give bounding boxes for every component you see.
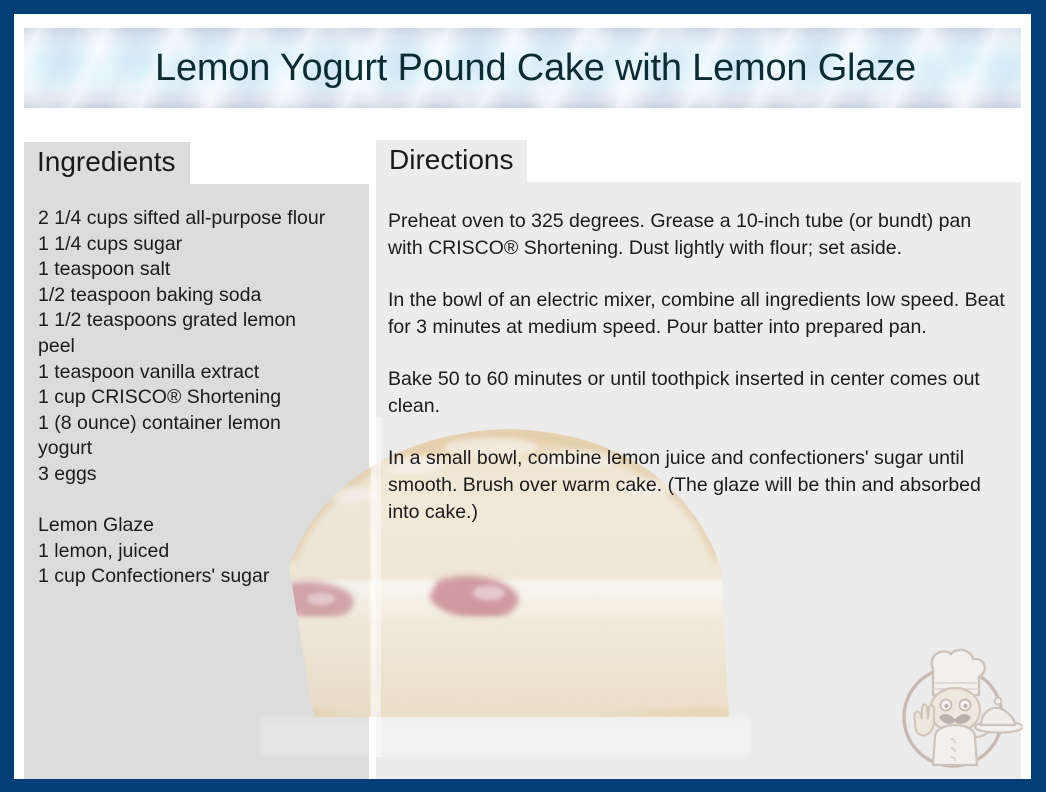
section-header-ingredients: Ingredients: [24, 142, 190, 185]
ingredient-line: 1 lemon, juiced: [38, 539, 357, 565]
ingredient-line: Lemon Glaze: [38, 513, 357, 539]
ingredient-line: 1 cup Confectioners' sugar: [38, 564, 357, 590]
direction-paragraph: Preheat oven to 325 degrees. Grease a 10…: [388, 208, 1005, 262]
ingredients-list: 2 1/4 cups sifted all-purpose flour1 1/4…: [24, 184, 369, 590]
ingredient-line: 1 1/4 cups sugar: [38, 232, 357, 258]
direction-paragraph: In a small bowl, combine lemon juice and…: [388, 445, 1005, 526]
directions-steps: Preheat oven to 325 degrees. Grease a 10…: [376, 182, 1021, 526]
recipe-card: Lemon Yogurt Pound Cake with Lemon Glaze…: [0, 0, 1046, 792]
page-title: Lemon Yogurt Pound Cake with Lemon Glaze: [24, 28, 1021, 108]
ingredient-line: peel: [38, 334, 357, 360]
ingredient-line: 1 1/2 teaspoons grated lemon: [38, 308, 357, 334]
title-banner: Lemon Yogurt Pound Cake with Lemon Glaze: [24, 28, 1021, 108]
recipe-sheet: Lemon Yogurt Pound Cake with Lemon Glaze…: [14, 14, 1031, 779]
ingredient-line: 1 teaspoon salt: [38, 257, 357, 283]
ingredient-line: 1 cup CRISCO® Shortening: [38, 385, 357, 411]
ingredients-panel: 2 1/4 cups sifted all-purpose flour1 1/4…: [24, 184, 369, 779]
ingredient-line: 1 (8 ounce) container lemon: [38, 411, 357, 437]
ingredient-line: 2 1/4 cups sifted all-purpose flour: [38, 206, 357, 232]
ingredient-line: yogurt: [38, 436, 357, 462]
direction-paragraph: Bake 50 to 60 minutes or until toothpick…: [388, 366, 1005, 420]
ingredient-spacer: [38, 488, 357, 514]
ingredient-line: 3 eggs: [38, 462, 357, 488]
ingredient-line: 1/2 teaspoon baking soda: [38, 283, 357, 309]
ingredient-line: 1 teaspoon vanilla extract: [38, 360, 357, 386]
direction-paragraph: In the bowl of an electric mixer, combin…: [388, 287, 1005, 341]
section-header-directions: Directions: [376, 140, 527, 183]
directions-panel: Preheat oven to 325 degrees. Grease a 10…: [376, 182, 1021, 779]
